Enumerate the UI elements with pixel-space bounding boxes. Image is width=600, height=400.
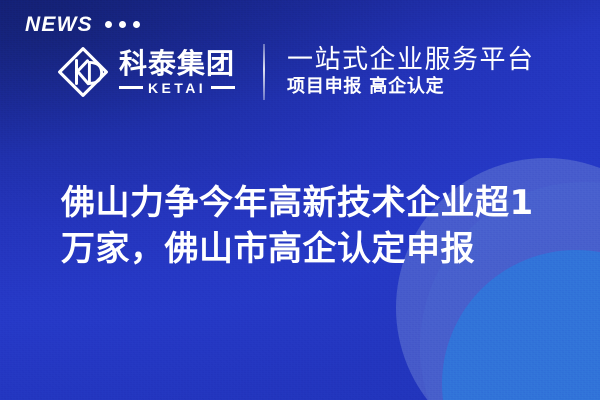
news-dots-icon	[105, 21, 140, 28]
brand-header: 科泰集团 KETAI 一站式企业服务平台 项目申报 高企认定	[56, 44, 535, 100]
tagline-primary: 一站式企业服务平台	[287, 46, 535, 75]
brand-name-cn: 科泰集团	[119, 49, 235, 78]
news-dot-2	[119, 21, 126, 28]
brand-divider	[263, 44, 265, 100]
tagline-block: 一站式企业服务平台 项目申报 高企认定	[287, 46, 535, 98]
news-banner: NEWS	[0, 0, 600, 400]
news-label: NEWS	[25, 14, 93, 35]
news-dot-1	[105, 21, 112, 28]
tagline-secondary: 项目申报 高企认定	[287, 77, 535, 98]
news-eyebrow: NEWS	[25, 14, 140, 35]
brand-wordmark: 科泰集团 KETAI	[119, 49, 235, 94]
news-dot-3	[133, 21, 140, 28]
wordmark-rule-right	[211, 86, 235, 89]
headline-text: 佛山力争今年高新技术企业超1万家，佛山市高企认定申报	[61, 181, 561, 273]
wordmark-rule-left	[119, 86, 143, 89]
ketai-diamond-kd-logo-icon	[56, 45, 110, 99]
brand-name-en-row: KETAI	[119, 81, 235, 95]
brand-logo: 科泰集团 KETAI	[56, 45, 235, 99]
brand-name-en: KETAI	[148, 81, 206, 95]
